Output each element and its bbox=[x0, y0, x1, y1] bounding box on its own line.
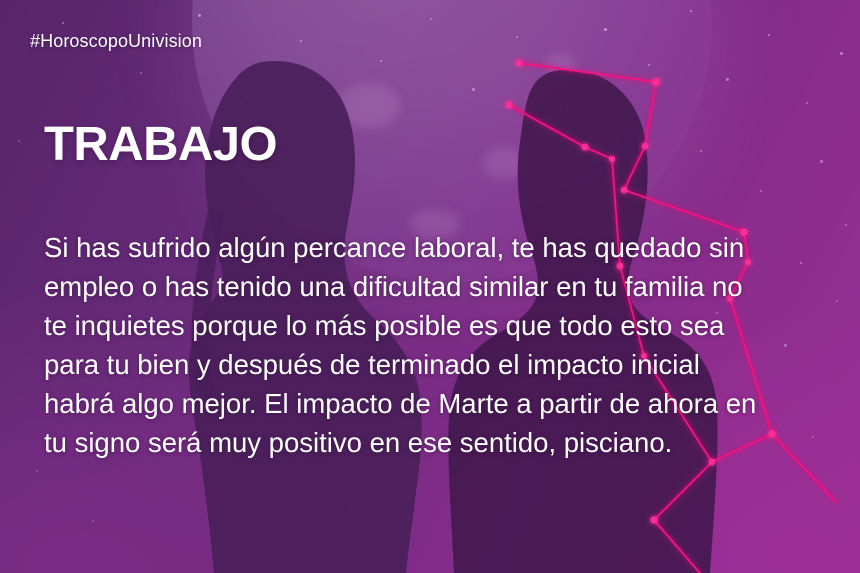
page-title: TRABAJO bbox=[44, 120, 277, 170]
hashtag-label: #HoroscopoUnivision bbox=[30, 31, 202, 52]
horoscope-body-text: Si has sufrido algún percance laboral, t… bbox=[44, 228, 772, 462]
horoscope-card: #HoroscopoUnivision TRABAJO Si has sufri… bbox=[0, 0, 860, 573]
